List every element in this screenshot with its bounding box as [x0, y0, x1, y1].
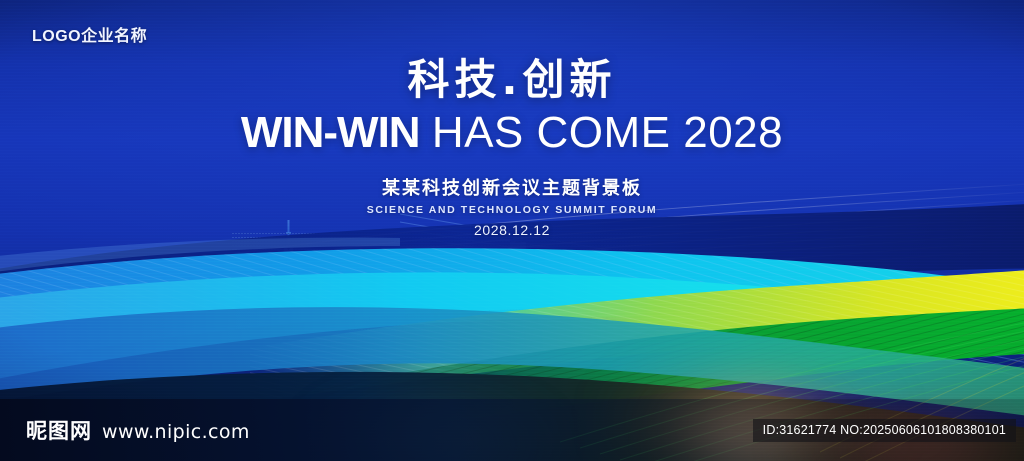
id-plate: ID:31621774 NO:20250606101808380101 — [753, 419, 1016, 442]
title-english: WIN-WIN HAS COME 2028 — [0, 108, 1024, 158]
watermark: 昵图网 www.nipic.com — [26, 415, 250, 445]
title-english-light: HAS COME 2028 — [432, 108, 783, 157]
logo-company-name: LOGO企业名称 — [32, 22, 147, 46]
subtitle-english: SCIENCE AND TECHNOLOGY SUMMIT FORUM — [0, 204, 1024, 216]
title-english-strong: WIN-WIN — [241, 108, 420, 157]
poster-canvas: LOGO企业名称 科技.创新 WIN-WIN HAS COME 2028 某某科… — [0, 0, 1024, 461]
subtitle-chinese: 某某科技创新会议主题背景板 — [0, 174, 1024, 200]
event-date: 2028.12.12 — [0, 222, 1024, 238]
watermark-url: www.nipic.com — [102, 421, 250, 443]
title-chinese: 科技.创新 — [0, 56, 1024, 104]
headline-block: 科技.创新 WIN-WIN HAS COME 2028 某某科技创新会议主题背景… — [0, 56, 1024, 238]
watermark-brand: 昵图网 — [26, 415, 92, 445]
